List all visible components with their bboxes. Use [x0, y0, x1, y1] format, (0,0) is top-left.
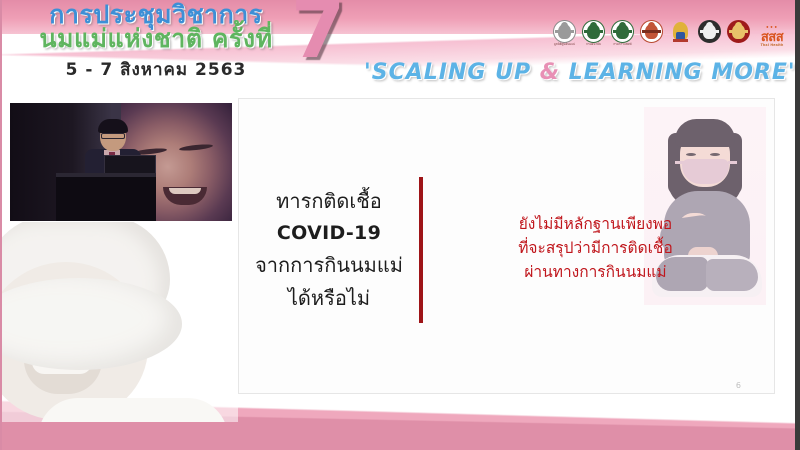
thaihealth-logo-subcaption: Thai Health	[755, 44, 789, 47]
garuda-gold-logo	[668, 20, 693, 47]
answer-column: ยังไม่มีหลักฐานเพียงพอ ที่จะสรุปว่ามีการ…	[423, 99, 774, 393]
conference-title-line2: นมแม่แห่งชาติ ครั้งที่	[16, 26, 296, 52]
question-line-2: COVID-19	[277, 218, 381, 249]
question-line-4: ได้หรือไม่	[288, 282, 370, 315]
black-circle-logo	[697, 20, 722, 47]
answer-text: ยังไม่มีหลักฐานเพียงพอ ที่จะสรุปว่ามีการ…	[518, 212, 679, 284]
red-crest-logo	[726, 20, 751, 47]
royal-seal-logo-caption: มูลนิธิศูนย์นมแม่	[552, 42, 577, 47]
tagline-ampersand: &	[540, 60, 560, 85]
presentation-slide: การประชุมวิชาการ นมแม่แห่งชาติ ครั้งที่ …	[0, 0, 800, 450]
content-card: ทารกติดเชื้อ COVID-19 จากการกินนมแม่ ได้…	[238, 98, 775, 394]
presenter-video[interactable]	[10, 103, 232, 221]
royal-seal-logo: มูลนิธิศูนย์นมแม่	[552, 20, 577, 47]
glasses-icon	[101, 133, 125, 139]
ministry-health-logo-caption: กรมอนามัย	[581, 42, 606, 47]
department-health-logo-caption: กรมการแพทย์	[610, 42, 635, 47]
thaihealth-logo-caption: สสส	[755, 31, 789, 44]
conference-tagline: 'SCALING UP & LEARNING MORE'	[364, 60, 796, 85]
podium	[56, 177, 156, 221]
question-line-3: จากการกินนมแม่	[255, 249, 403, 282]
emblem-red-logo	[639, 20, 664, 47]
question-line-1: ทารกติดเชื้อ	[276, 185, 382, 218]
thaihealth-logo: ••• สสส Thai Health	[755, 26, 789, 47]
answer-line-3: ผ่านทางการกินนมแม่	[518, 260, 673, 284]
slide-header: การประชุมวิชาการ นมแม่แห่งชาติ ครั้งที่ …	[2, 0, 795, 96]
tagline-part2: LEARNING MORE'	[560, 60, 796, 85]
answer-line-2: ที่จะสรุปว่ามีการติดเชื้อ	[518, 236, 673, 260]
question-column: ทารกติดเชื้อ COVID-19 จากการกินนมแม่ ได้…	[239, 99, 419, 393]
ministry-health-logo: กรมอนามัย	[581, 20, 606, 47]
sponsor-logo-row: มูลนิธิศูนย์นมแม่ กรมอนามัย กรมการแพทย์ …	[552, 20, 789, 47]
conference-dates: 5 - 7 สิงหาคม 2563	[16, 56, 296, 83]
background-child-photo	[2, 222, 238, 422]
edition-number: 7	[291, 0, 345, 70]
page-number: 6	[736, 381, 741, 390]
department-health-logo: กรมการแพทย์	[610, 20, 635, 47]
answer-line-1: ยังไม่มีหลักฐานเพียงพอ	[518, 212, 673, 236]
tagline-part1: 'SCALING UP	[364, 60, 540, 85]
conference-title-block: การประชุมวิชาการ นมแม่แห่งชาติ ครั้งที่ …	[16, 2, 296, 83]
